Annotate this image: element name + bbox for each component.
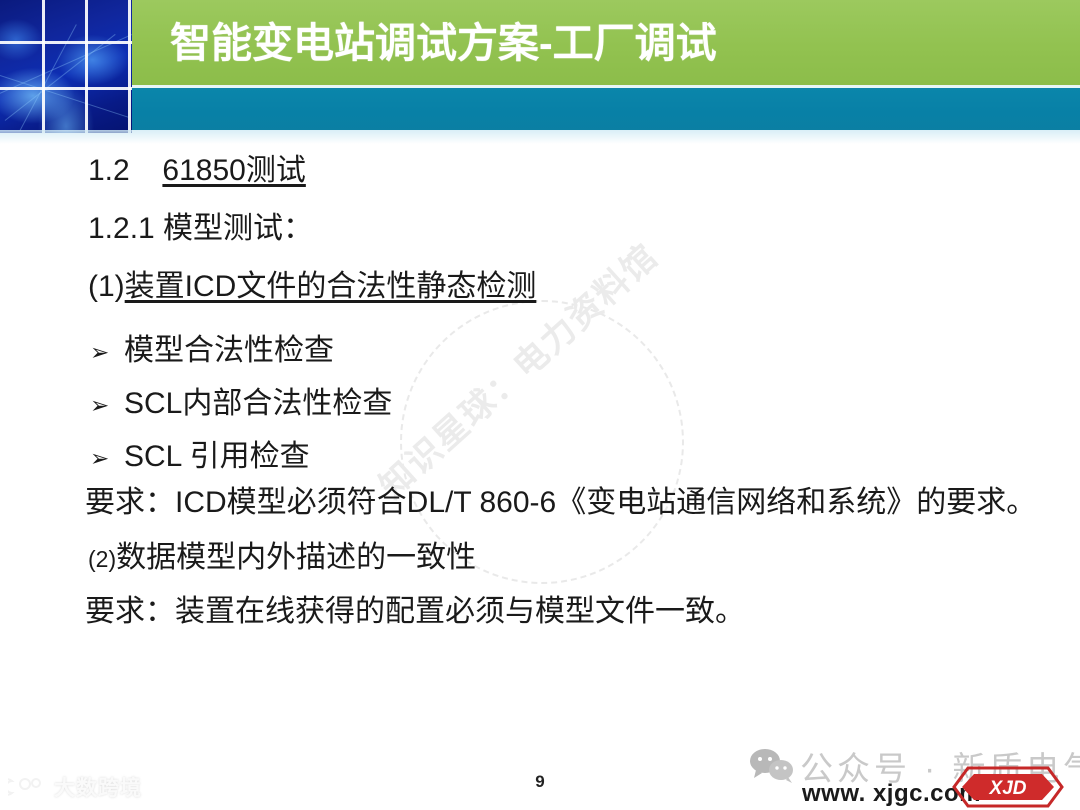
header-decorative-photo bbox=[0, 0, 132, 133]
item-2-line: (2)数据模型内外描述的一致性 bbox=[88, 540, 476, 577]
photo-grid-line-vertical bbox=[42, 0, 45, 133]
header-teal-band bbox=[132, 88, 1080, 130]
bottom-left-watermark: 大数跨境 bbox=[8, 772, 142, 802]
heading-number: 1.2 bbox=[88, 154, 130, 187]
photo-grid-line-vertical bbox=[128, 0, 131, 133]
subheading: 1.2.1 模型测试： bbox=[88, 211, 313, 247]
xjd-logo-text: XJD bbox=[989, 778, 1027, 799]
photo-grid-line-vertical bbox=[85, 0, 88, 133]
heading-line: 1.2 61850测试 bbox=[88, 153, 306, 189]
heading-title: 61850测试 bbox=[162, 154, 305, 187]
requirement-1: 要求：ICD模型必须符合DL/T 860-6《变电站通信网络和系统》的要求。 bbox=[85, 485, 1036, 521]
slide-canvas: 智能变电站调试方案-工厂调试 知识星球：电力资料馆 1.2 61850测试 1.… bbox=[0, 0, 1080, 810]
footer-branding: 公众号 · 新质电气 www. xjgc.com XJD bbox=[744, 742, 1074, 808]
slide-body: 1.2 61850测试 1.2.1 模型测试： (1)装置ICD文件的合法性静态… bbox=[0, 133, 1080, 743]
requirement-2: 要求：装置在线获得的配置必须与模型文件一致。 bbox=[85, 594, 745, 630]
photo-background bbox=[0, 0, 132, 133]
arrow-bullet-icon: ➢ bbox=[90, 392, 124, 419]
photo-grid-line-horizontal bbox=[0, 41, 132, 44]
bottom-left-watermark-text: 大数跨境 bbox=[54, 772, 142, 802]
list-item: ➢ SCL内部合法性检查 bbox=[90, 378, 392, 422]
xjd-company-logo-icon: XJD bbox=[952, 764, 1064, 810]
dashukuajing-logo-icon bbox=[8, 775, 48, 799]
arrow-bullet-icon: ➢ bbox=[90, 445, 124, 472]
arrow-bullet-icon: ➢ bbox=[90, 339, 124, 366]
list-item-label: 模型合法性检查 bbox=[124, 325, 334, 369]
item-1-line: (1)装置ICD文件的合法性静态检测 bbox=[88, 269, 536, 305]
wechat-icon bbox=[748, 748, 796, 784]
item-1-prefix: (1) bbox=[88, 270, 125, 303]
item-2-prefix: (2) bbox=[88, 546, 116, 572]
item-1-text: 装置ICD文件的合法性静态检测 bbox=[125, 270, 537, 303]
list-item: ➢ 模型合法性检查 bbox=[90, 325, 334, 369]
page-title: 智能变电站调试方案-工厂调试 bbox=[170, 14, 717, 72]
list-item-label: SCL 引用检查 bbox=[124, 431, 310, 475]
list-item: ➢ SCL 引用检查 bbox=[90, 431, 310, 475]
list-item-label: SCL内部合法性检查 bbox=[124, 378, 392, 422]
photo-grid-line-horizontal bbox=[0, 87, 132, 90]
item-2-text: 数据模型内外描述的一致性 bbox=[116, 541, 476, 574]
slide-header: 智能变电站调试方案-工厂调试 bbox=[0, 0, 1080, 133]
